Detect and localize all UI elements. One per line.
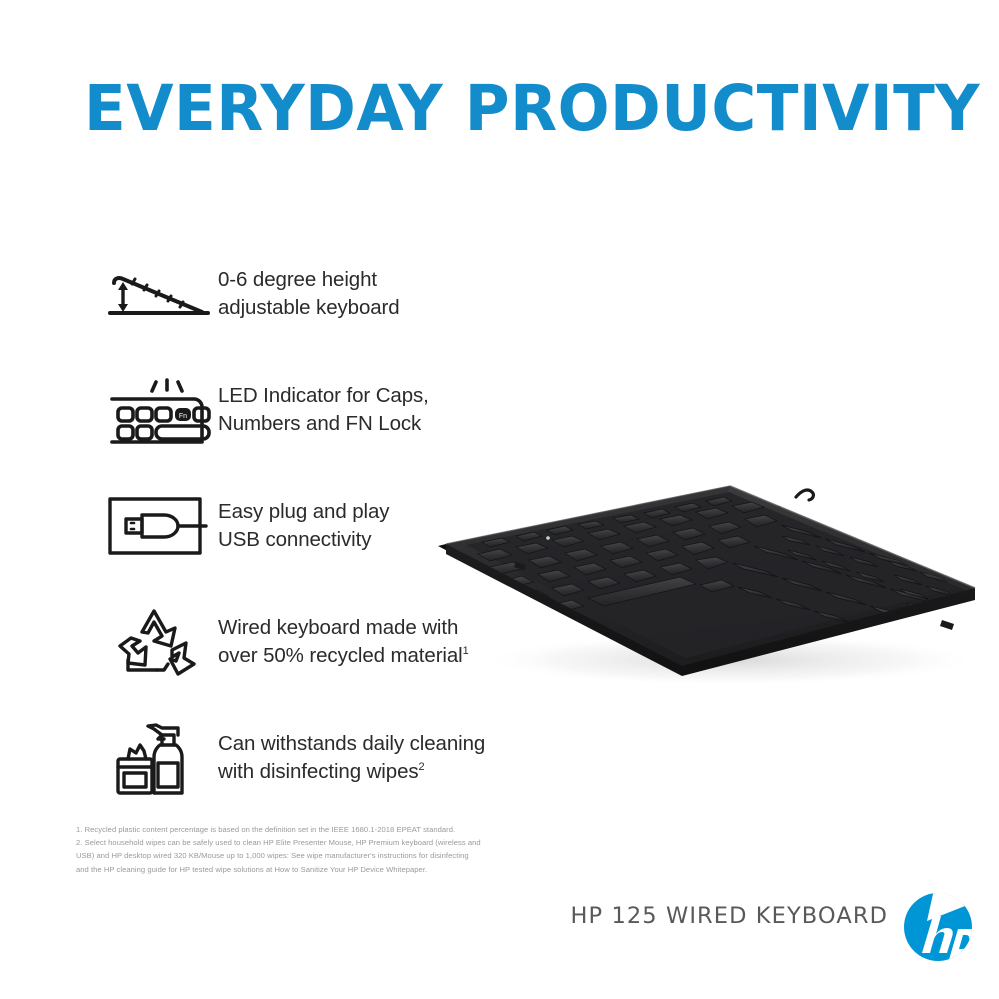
feature-line-2: adjustable keyboard	[218, 296, 400, 319]
recycle-icon	[96, 602, 218, 682]
feature-item-led-indicator: Fn LED Indicator for Caps, Numbers and F…	[96, 352, 566, 468]
hp-logo	[902, 891, 974, 963]
feature-list: 0-6 degree height adjustable keyboard	[96, 236, 566, 816]
usb-connector-icon	[96, 491, 218, 561]
feature-line-1: Easy plug and play	[218, 500, 389, 523]
feature-text: Wired keyboard made with over 50% recycl…	[218, 614, 469, 670]
footnote-marker: 1	[463, 645, 469, 657]
footnote-1: 1. Recycled plastic content percentage i…	[76, 823, 496, 836]
keyboard-tilt-angle-icon	[96, 265, 218, 323]
footnote-2-line-3: and the HP cleaning guide for HP tested …	[76, 863, 496, 876]
feature-text: LED Indicator for Caps, Numbers and FN L…	[218, 382, 429, 438]
feature-line-1: Wired keyboard made with	[218, 616, 458, 639]
keyboard-led-indicator-icon: Fn	[96, 372, 218, 448]
fn-key-label: Fn	[179, 413, 187, 420]
marketing-infographic-canvas: EVERYDAY PRODUCTIVITY	[0, 0, 999, 999]
feature-line-2: with disinfecting wipes	[218, 760, 419, 783]
footnote-2-line-1: 2. Select household wipes can be safely …	[76, 836, 496, 849]
feature-item-usb-connectivity: Easy plug and play USB connectivity	[96, 468, 566, 584]
footnotes-block: 1. Recycled plastic content percentage i…	[76, 823, 496, 876]
footnote-marker: 2	[419, 761, 425, 773]
brand-bar: HP 125 WIRED KEYBOARD	[0, 893, 999, 973]
feature-line-1: Can withstands daily cleaning	[218, 732, 485, 755]
feature-line-2: USB connectivity	[218, 528, 371, 551]
footnote-2-line-2: USB) and HP desktop wired 320 KB/Mouse u…	[76, 849, 496, 862]
feature-item-recycled-material: Wired keyboard made with over 50% recycl…	[96, 584, 566, 700]
feature-text: 0-6 degree height adjustable keyboard	[218, 266, 400, 322]
feature-line-1: 0-6 degree height	[218, 268, 377, 291]
cleaning-wipes-spray-icon	[96, 715, 218, 801]
feature-item-disinfecting-wipes: Can withstands daily cleaning with disin…	[96, 700, 566, 816]
feature-line-2: Numbers and FN Lock	[218, 412, 421, 435]
feature-line-2: over 50% recycled material	[218, 644, 463, 667]
feature-line-1: LED Indicator for Caps,	[218, 384, 429, 407]
product-name: HP 125 WIRED KEYBOARD	[571, 903, 888, 929]
feature-item-height-adjust: 0-6 degree height adjustable keyboard	[96, 236, 566, 352]
feature-text: Can withstands daily cleaning with disin…	[218, 730, 485, 786]
feature-text: Easy plug and play USB connectivity	[218, 498, 389, 554]
page-title: EVERYDAY PRODUCTIVITY	[84, 76, 918, 142]
